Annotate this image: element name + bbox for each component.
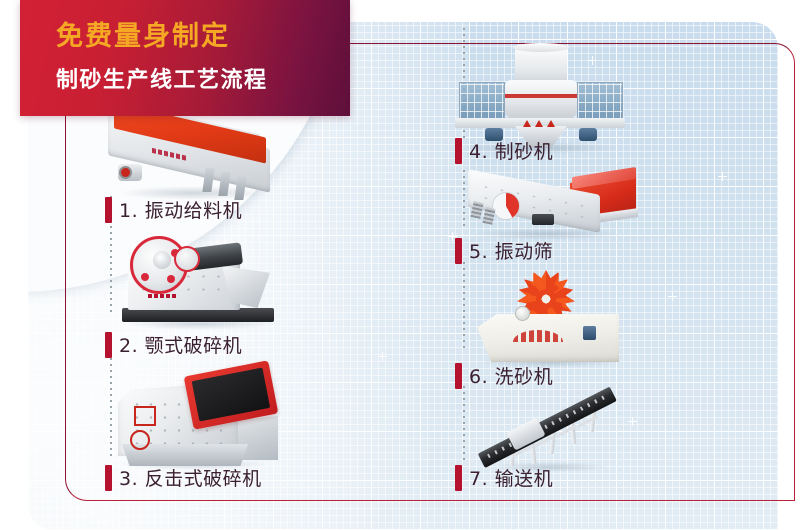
washer-wheel-hub — [515, 306, 530, 321]
screen-motor — [532, 214, 554, 225]
flow-step-text: 7. 输送机 — [469, 464, 553, 491]
flow-step-label-2: 2. 颚式破碎机 — [105, 331, 242, 358]
jaw-flywheel-hub — [153, 251, 171, 269]
flow-step-text: 4. 制砂机 — [469, 137, 553, 164]
logo-star-icon — [547, 120, 555, 127]
step-marker-bar — [105, 332, 112, 358]
flow-connector-6-7 — [463, 386, 465, 462]
jaw-base — [122, 308, 274, 322]
flow-step-text: 5. 振动筛 — [469, 237, 553, 264]
banner-headline: 免费量身制定 — [56, 14, 230, 53]
header-banner: 免费量身制定 制砂生产线工艺流程 — [20, 0, 350, 116]
brand-logo — [148, 294, 178, 298]
banner-subheadline: 制砂生产线工艺流程 — [56, 62, 268, 94]
sand-making-machine-image — [453, 42, 628, 150]
sandmaker-body — [505, 80, 577, 122]
sandmaker-platform-left — [459, 82, 505, 122]
sandmaker-motor-right — [579, 128, 597, 141]
step-marker-bar — [105, 465, 112, 491]
flow-step-label-5: 5. 振动筛 — [455, 237, 553, 264]
flow-step-label-6: 6. 洗砂机 — [455, 362, 553, 389]
vibrating-screen-image — [462, 166, 642, 244]
jaw-pulley — [174, 246, 200, 272]
flow-step-label-1: 1. 振动给料机 — [105, 196, 242, 223]
belt-conveyor-image — [485, 396, 635, 470]
sandmaker-red-stripe — [505, 94, 577, 98]
washer-gearbox — [583, 326, 596, 340]
flywheel-bolt — [141, 273, 149, 281]
conveyor-belt — [478, 387, 617, 468]
impact-crusher-image — [110, 362, 295, 470]
feeder-motor — [118, 164, 142, 181]
impact-callout-box — [134, 406, 156, 426]
sand-washer-image — [475, 268, 625, 364]
sandmaker-platform-right — [577, 82, 623, 122]
flow-step-text: 3. 反击式破碎机 — [119, 464, 262, 491]
vibrating-feeder-image — [100, 112, 290, 204]
screen-spring — [470, 201, 483, 219]
flow-step-label-3: 3. 反击式破碎机 — [105, 464, 262, 491]
screen-spring — [482, 207, 495, 225]
washer-wheel-spokes — [529, 282, 563, 316]
hopper-opening — [192, 368, 271, 422]
impact-callout-circle — [130, 430, 150, 450]
flow-step-text: 6. 洗砂机 — [469, 362, 553, 389]
logo-star-icon — [523, 120, 531, 127]
step-marker-bar — [455, 363, 462, 389]
step-marker-bar — [105, 197, 112, 223]
flow-step-label-7: 7. 输送机 — [455, 464, 553, 491]
flow-step-label-4: 4. 制砂机 — [455, 137, 553, 164]
flow-connector-5-6 — [463, 262, 465, 352]
screen-eccentric-wheel — [492, 192, 520, 220]
flow-step-text: 1. 振动给料机 — [119, 196, 242, 223]
flow-step-text: 2. 颚式破碎机 — [119, 331, 242, 358]
logo-star-icon — [535, 120, 543, 127]
jaw-crusher-image — [118, 232, 293, 332]
flywheel-bolt — [167, 275, 175, 283]
feeder-motor-hub — [121, 168, 130, 177]
poster-root: 免费量身制定 制砂生产线工艺流程 1. 振动给料机 — [0, 0, 800, 530]
step-marker-bar — [455, 238, 462, 264]
step-marker-bar — [455, 138, 462, 164]
step-marker-bar — [455, 465, 462, 491]
